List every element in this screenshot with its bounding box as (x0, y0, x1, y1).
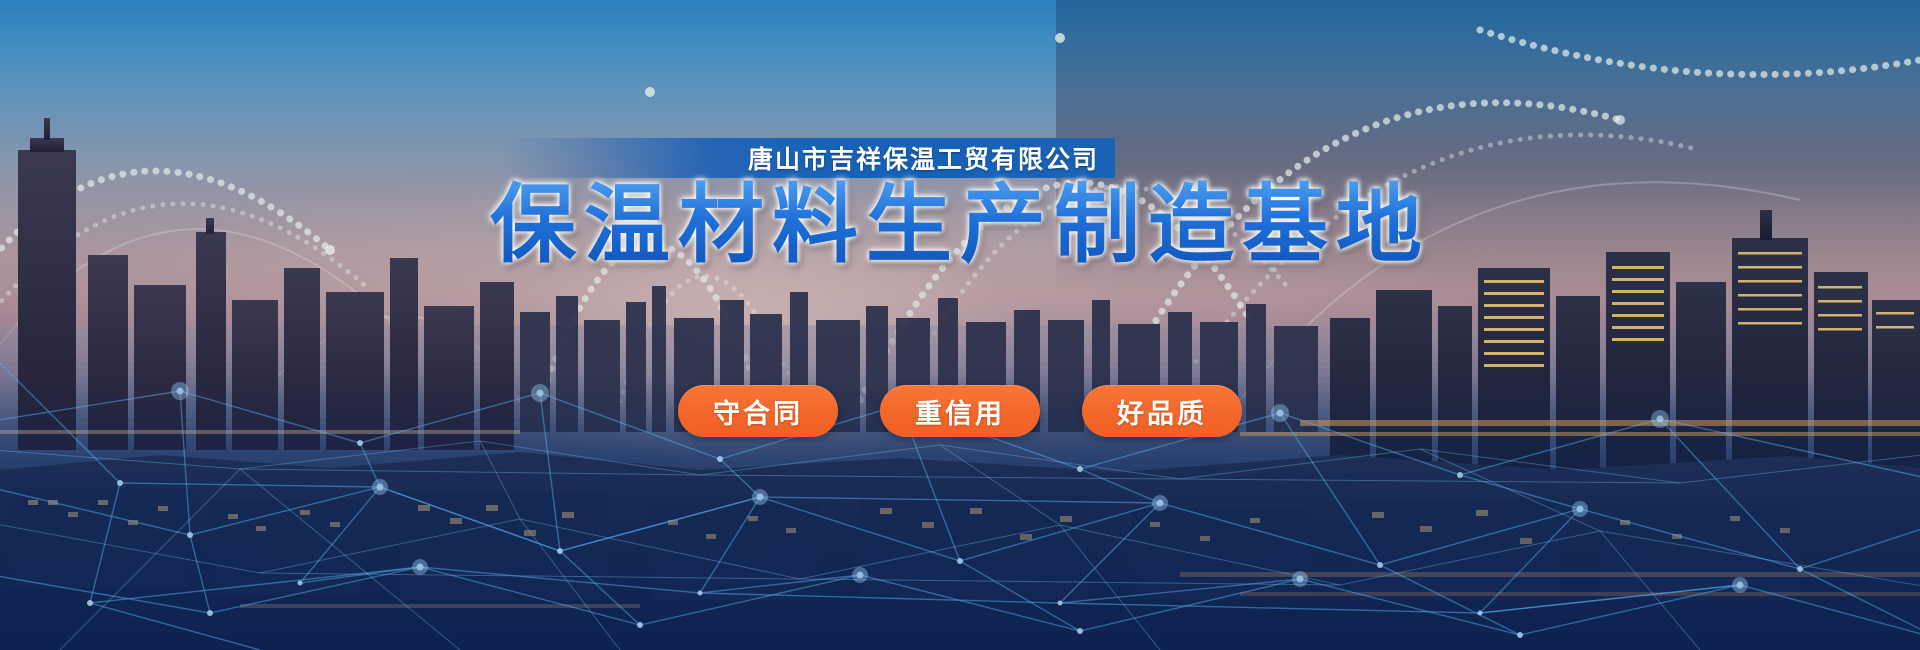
feature-pill-credit[interactable]: 重信用 (880, 385, 1040, 437)
company-name-banner: 唐山市吉祥保温工贸有限公司 (500, 138, 1115, 178)
hero-banner: .bead{fill:none;stroke:#dfe6e4;stroke-op… (0, 0, 1920, 650)
feature-pill-quality-label: 好品质 (1117, 392, 1207, 431)
headline-title: 保温材料生产制造基地 (0, 180, 1920, 270)
feature-pill-contract[interactable]: 守合同 (678, 385, 838, 437)
feature-pill-quality[interactable]: 好品质 (1082, 385, 1242, 437)
banner-content: 唐山市吉祥保温工贸有限公司 保温材料生产制造基地 保温材料生产制造基地 守合同 … (0, 0, 1920, 650)
company-name-text: 唐山市吉祥保温工贸有限公司 (748, 140, 1099, 176)
feature-pill-group: 守合同 重信用 好品质 (0, 385, 1920, 437)
feature-pill-contract-label: 守合同 (713, 392, 803, 431)
feature-pill-credit-label: 重信用 (915, 392, 1005, 431)
